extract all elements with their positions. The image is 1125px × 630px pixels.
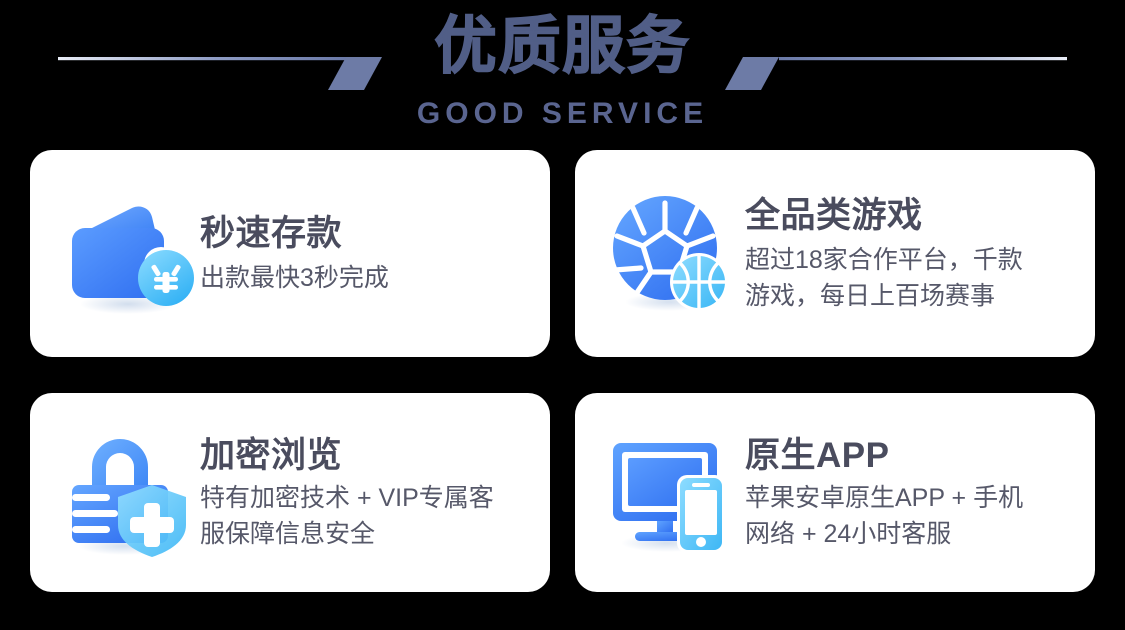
card-description-line: 网络 + 24小时客服	[745, 516, 1075, 552]
card-description-line: 超过18家合作平台，千款	[745, 242, 1075, 278]
feature-card-deposit[interactable]: 秒速存款 出款最快3秒完成	[30, 150, 550, 357]
card-description-line: 出款最快3秒完成	[200, 260, 530, 296]
card-description: 苹果安卓原生APP + 手机 网络 + 24小时客服	[745, 480, 1075, 552]
card-description: 特有加密技术 + VIP专属客 服保障信息安全	[200, 480, 530, 552]
card-text-deposit: 秒速存款 出款最快3秒完成	[200, 212, 530, 296]
soccer-basketball-icon	[603, 186, 739, 322]
card-title: 秒速存款	[200, 212, 530, 256]
page-subtitle: GOOD SERVICE	[0, 96, 1125, 132]
feature-card-encryption[interactable]: 加密浏览 特有加密技术 + VIP专属客 服保障信息安全	[30, 393, 550, 592]
card-title: 加密浏览	[200, 434, 530, 478]
lock-shield-icon	[58, 425, 194, 561]
card-description-line: 特有加密技术 + VIP专属客	[200, 480, 530, 516]
card-title: 全品类游戏	[745, 194, 1075, 238]
card-text-native-app: 原生APP 苹果安卓原生APP + 手机 网络 + 24小时客服	[745, 434, 1075, 552]
page-header: 优质服务 GOOD SERVICE	[0, 0, 1125, 145]
card-description: 超过18家合作平台，千款 游戏，每日上百场赛事	[745, 242, 1075, 314]
card-text-encryption: 加密浏览 特有加密技术 + VIP专属客 服保障信息安全	[200, 434, 530, 552]
card-text-games: 全品类游戏 超过18家合作平台，千款 游戏，每日上百场赛事	[745, 194, 1075, 314]
card-title: 原生APP	[745, 434, 1075, 478]
card-description-line: 苹果安卓原生APP + 手机	[745, 480, 1075, 516]
page-title: 优质服务	[0, 8, 1125, 84]
wallet-coin-icon	[58, 186, 194, 322]
feature-card-grid: 秒速存款 出款最快3秒完成	[30, 150, 1095, 592]
card-description-line: 游戏，每日上百场赛事	[745, 278, 1075, 314]
card-description-line: 服保障信息安全	[200, 516, 530, 552]
feature-card-native-app[interactable]: 原生APP 苹果安卓原生APP + 手机 网络 + 24小时客服	[575, 393, 1095, 592]
feature-card-games[interactable]: 全品类游戏 超过18家合作平台，千款 游戏，每日上百场赛事	[575, 150, 1095, 357]
monitor-phone-icon	[603, 425, 739, 561]
card-description: 出款最快3秒完成	[200, 260, 530, 296]
